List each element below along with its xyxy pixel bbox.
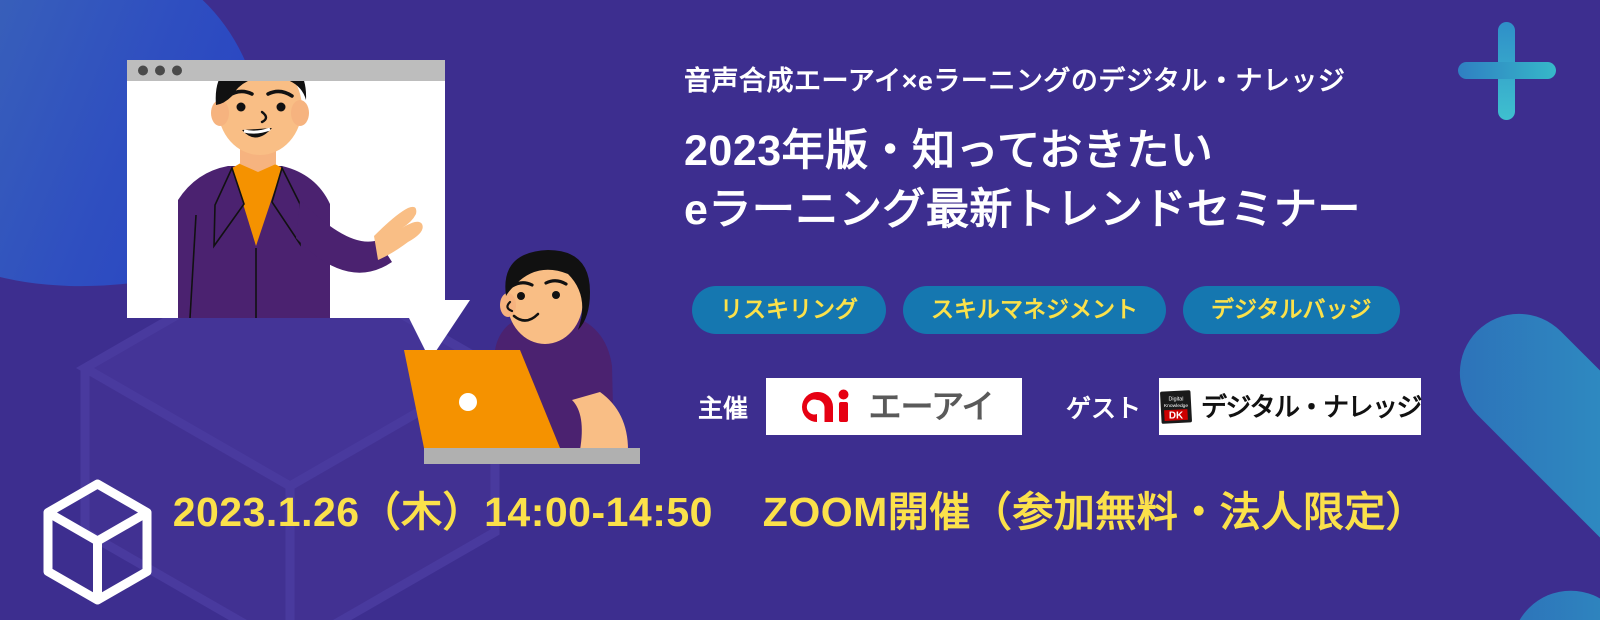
svg-text:Digital: Digital: [1169, 396, 1184, 402]
tag-digital-badge[interactable]: デジタルバッジ: [1183, 286, 1400, 334]
plus-icon: [1452, 16, 1562, 126]
guest-logo-text: デジタル・ナレッジ: [1201, 394, 1421, 420]
browser-window-illustration: [127, 56, 445, 318]
dk-logo-mark: Digital Knowledge DK: [1159, 387, 1193, 427]
tag-list: リスキリング スキルマネジメント デジタルバッジ: [692, 286, 1400, 334]
ai-logo-mark: [795, 388, 863, 426]
svg-text:Knowledge: Knowledge: [1164, 403, 1189, 409]
tag-reskilling[interactable]: リスキリング: [692, 286, 886, 334]
host-logo-ai: エーアイ: [766, 378, 1022, 435]
guest-logo-digital-knowledge: Digital Knowledge DK デジタル・ナレッジ: [1159, 378, 1421, 435]
event-date: 2023.1.26（木）14:00-14:50: [173, 489, 713, 535]
svg-text:DK: DK: [1169, 410, 1183, 421]
title-line-2: eラーニング最新トレンドセミナー: [684, 181, 1474, 240]
tag-skill-management[interactable]: スキルマネジメント: [903, 286, 1166, 334]
host-label: 主催: [698, 389, 748, 425]
logo-row: 主催 エーアイ ゲスト Digital Knowledge DK デジ: [698, 378, 1421, 435]
seminar-banner: 音声合成エーアイ×eラーニングのデジタル・ナレッジ 2023年版・知っておきたい…: [0, 0, 1600, 620]
title-line-1: 2023年版・知っておきたい: [684, 122, 1474, 181]
guest-label: ゲスト: [1066, 389, 1141, 425]
host-logo-text: エーアイ: [869, 390, 994, 423]
event-details: 2023.1.26（木）14:00-14:50 ZOOM開催（参加無料・法人限定…: [0, 478, 1600, 538]
diagonal-stripe-lower: [1487, 566, 1600, 620]
event-venue: ZOOM開催（参加無料・法人限定）: [763, 489, 1427, 535]
eyebrow-text: 音声合成エーアイ×eラーニングのデジタル・ナレッジ: [684, 59, 1345, 98]
page-title: 2023年版・知っておきたい eラーニング最新トレンドセミナー: [684, 122, 1474, 241]
